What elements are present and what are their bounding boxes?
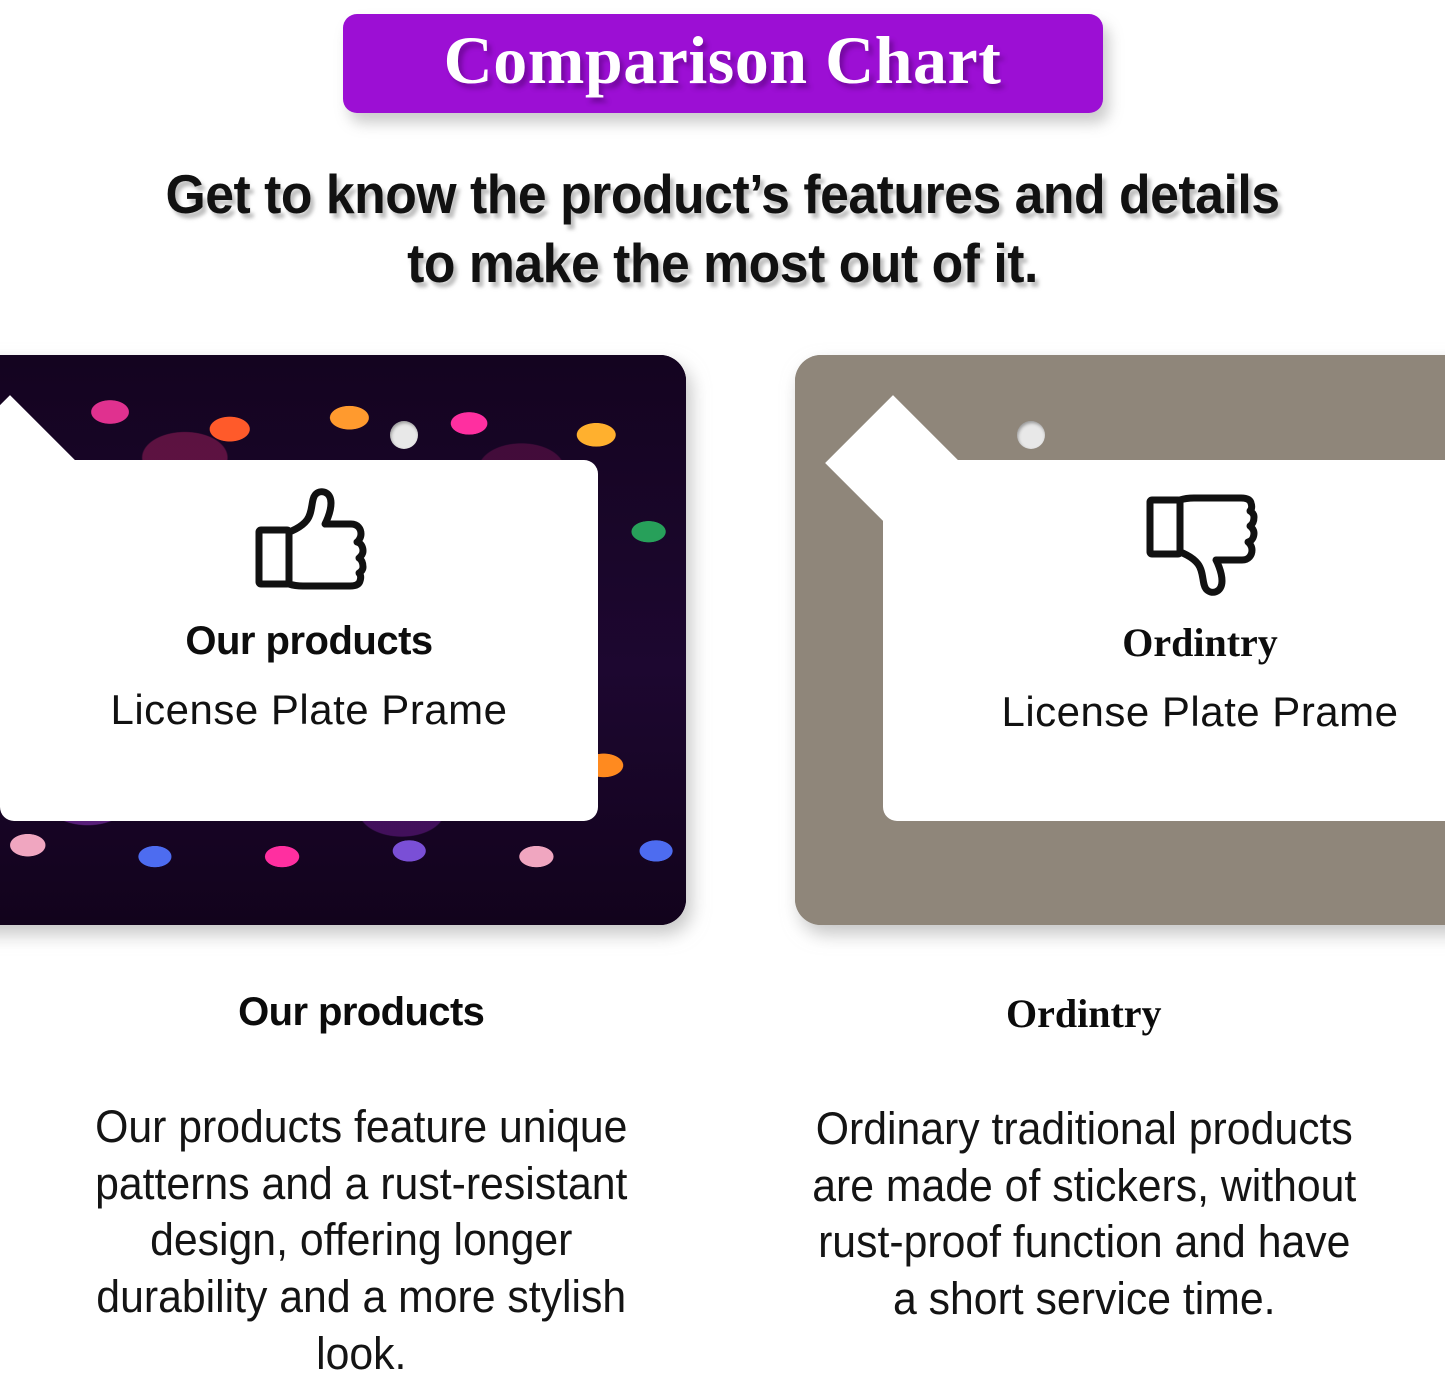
mounting-hole-left: [390, 421, 418, 449]
plate-window-subtitle-right: License Plate Prame: [1001, 688, 1398, 736]
description-column-right: Ordintry Ordinary traditional products a…: [723, 990, 1445, 1314]
mounting-hole-right: [1017, 421, 1045, 449]
page-subtitle: Get to know the product’s features and d…: [43, 160, 1401, 299]
description-body-left: Our products feature unique patterns and…: [62, 1099, 661, 1382]
plate-window-title-right: Ordintry: [1122, 619, 1278, 666]
page-title: Comparison Chart: [387, 24, 1059, 97]
plate-window-left: Our products License Plate Prame: [0, 460, 598, 821]
description-columns: Our products Our products feature unique…: [0, 990, 1445, 1314]
description-heading-left: Our products: [46, 990, 677, 1035]
plate-window-content-left: Our products License Plate Prame: [0, 460, 598, 821]
description-heading-right: Ordintry: [769, 990, 1400, 1037]
title-banner: Comparison Chart: [343, 14, 1103, 113]
plate-window-content-right: Ordintry License Plate Prame: [883, 460, 1445, 821]
plate-window-subtitle-left: License Plate Prame: [110, 686, 507, 734]
thumbs-up-icon: [251, 486, 367, 603]
plate-window-right: Ordintry License Plate Prame: [883, 460, 1445, 821]
plate-window-title-left: Our products: [185, 619, 432, 664]
description-body-right: Ordinary traditional products are made o…: [784, 1101, 1383, 1328]
comparison-frames-row: Our products License Plate Prame Ordintr…: [0, 355, 1445, 935]
title-banner-wrapper: Comparison Chart: [0, 14, 1445, 113]
description-column-left: Our products Our products feature unique…: [0, 990, 723, 1314]
product-frame-left: Our products License Plate Prame: [0, 355, 686, 925]
thumbs-down-icon: [1142, 486, 1258, 603]
product-frame-right: Ordintry License Plate Prame: [795, 355, 1445, 925]
